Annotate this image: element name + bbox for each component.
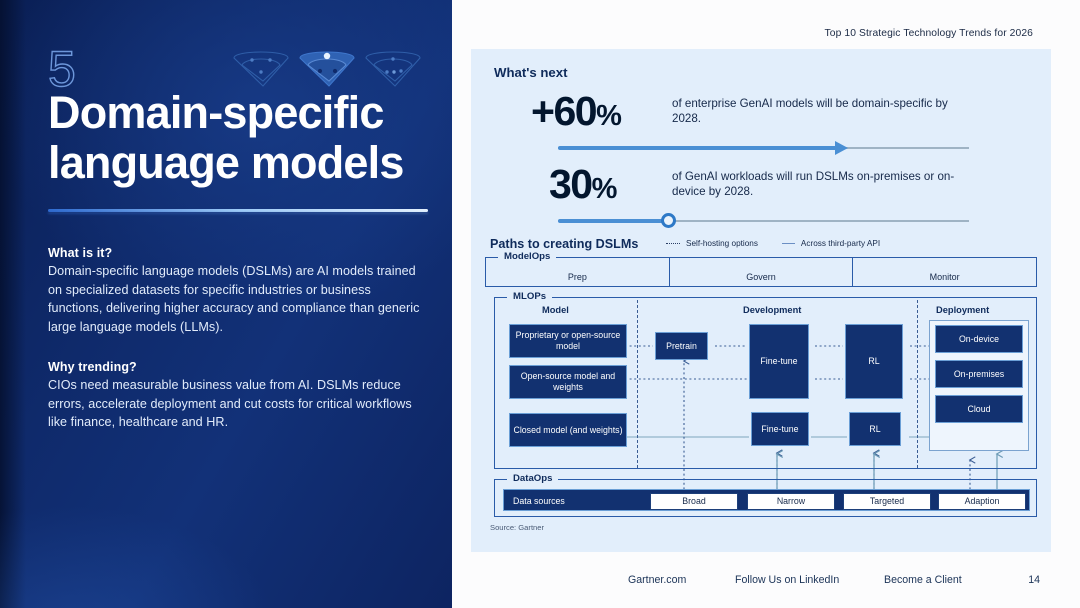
diagram-legend: Self-hosting options Across third-party … xyxy=(666,239,880,248)
dotted-line-icon xyxy=(666,243,680,244)
modelops-cells: Prep Govern Monitor xyxy=(486,258,1036,286)
legend-label: Self-hosting options xyxy=(686,239,758,248)
report-kicker: Top 10 Strategic Technology Trends for 2… xyxy=(825,28,1033,39)
stat-30-progress-bar xyxy=(558,214,969,228)
paths-heading: Paths to creating DSLMs xyxy=(490,237,638,251)
page-title-line-2: language models xyxy=(48,137,404,188)
legend-label: Across third-party API xyxy=(801,239,880,248)
data-sources-label: Data sources xyxy=(513,496,565,506)
dataops-cell-narrow[interactable]: Narrow xyxy=(747,493,835,510)
box-pretrain[interactable]: Pretrain xyxy=(655,332,708,360)
footer-link-gartner[interactable]: Gartner.com xyxy=(628,574,686,586)
dataops-cell-targeted[interactable]: Targeted xyxy=(843,493,931,510)
page-title: Domain-specific language models xyxy=(48,88,428,187)
stat-60-number: +60% xyxy=(531,91,621,132)
box-fine-tune-lower[interactable]: Fine-tune xyxy=(751,412,809,446)
phase-heading-model: Model xyxy=(542,305,569,315)
progress-fill xyxy=(558,146,837,150)
page-number: 14 xyxy=(1028,574,1040,586)
footer-link-linkedin[interactable]: Follow Us on LinkedIn xyxy=(735,574,839,586)
stat-60-value: +60 xyxy=(531,88,596,134)
footer: Gartner.com Follow Us on LinkedIn Become… xyxy=(452,560,1080,608)
legend-item-third-party-api: Across third-party API xyxy=(782,239,880,248)
whats-next-card: What's next +60% of enterprise GenAI mod… xyxy=(471,49,1051,552)
fan-eye-outline-icon xyxy=(364,48,422,88)
progress-fill xyxy=(558,219,669,223)
box-proprietary-model[interactable]: Proprietary or open-source model xyxy=(509,324,627,358)
stat-30-percent: % xyxy=(592,173,617,205)
what-is-it-block: What is it? Domain-specific language mod… xyxy=(48,246,426,337)
solid-line-icon xyxy=(782,243,795,244)
page-title-line-1: Domain-specific xyxy=(48,87,384,138)
dataops-label: DataOps xyxy=(507,473,558,484)
data-sources-bar: Data sources Broad Narrow Targeted Adapt… xyxy=(503,489,1030,511)
dataops-cell-adaption[interactable]: Adaption xyxy=(938,493,1026,510)
why-trending-heading: Why trending? xyxy=(48,360,426,374)
fan-eye-filled-icon xyxy=(298,48,356,88)
stat-30-value: 30 xyxy=(549,161,592,207)
circle-marker-icon xyxy=(661,213,676,228)
modelops-group: ModelOps Prep Govern Monitor xyxy=(485,257,1037,287)
stat-30-description: of GenAI workloads will run DSLMs on-pre… xyxy=(672,169,972,199)
modelops-cell-monitor: Monitor xyxy=(852,258,1036,286)
box-cloud[interactable]: Cloud xyxy=(935,395,1023,423)
fan-eye-outline-icon xyxy=(232,48,290,88)
box-closed-model[interactable]: Closed model (and weights) xyxy=(509,413,627,447)
right-content-panel: Top 10 Strategic Technology Trends for 2… xyxy=(452,0,1080,608)
source-note: Source: Gartner xyxy=(490,523,544,532)
title-divider xyxy=(48,209,428,212)
box-on-device[interactable]: On-device xyxy=(935,325,1023,353)
mlops-label: MLOPs xyxy=(507,291,552,302)
left-title-panel: 5 xyxy=(0,0,452,608)
dslm-paths-diagram: ModelOps Prep Govern Monitor MLOPs Model… xyxy=(485,257,1037,532)
whats-next-heading: What's next xyxy=(494,65,567,80)
phase-heading-development: Development xyxy=(743,305,801,315)
dataops-cell-broad[interactable]: Broad xyxy=(650,493,738,510)
box-fine-tune-upper[interactable]: Fine-tune xyxy=(749,324,809,399)
phase-separator xyxy=(917,300,918,468)
box-on-premises[interactable]: On-premises xyxy=(935,360,1023,388)
why-trending-block: Why trending? CIOs need measurable busin… xyxy=(48,360,426,432)
mlops-group: MLOPs Model Development Deployment Propr… xyxy=(494,297,1037,469)
stat-60-description: of enterprise GenAI models will be domai… xyxy=(672,96,972,126)
box-rl-lower[interactable]: RL xyxy=(849,412,901,446)
dataops-group: DataOps Data sources Broad Narrow Target… xyxy=(494,479,1037,517)
legend-item-self-hosting: Self-hosting options xyxy=(666,239,758,248)
decorative-icon-row xyxy=(232,48,428,92)
what-is-it-body: Domain-specific language models (DSLMs) … xyxy=(48,262,426,337)
phase-heading-deployment: Deployment xyxy=(936,305,989,315)
modelops-cell-govern: Govern xyxy=(669,258,853,286)
stat-30-number: 30% xyxy=(549,164,616,205)
phase-separator xyxy=(637,300,638,468)
arrow-marker-icon xyxy=(835,141,848,155)
stat-60-progress-bar xyxy=(558,141,969,155)
why-trending-body: CIOs need measurable business value from… xyxy=(48,376,426,432)
modelops-cell-prep: Prep xyxy=(486,258,669,286)
what-is-it-heading: What is it? xyxy=(48,246,426,260)
box-open-source-model[interactable]: Open-source model and weights xyxy=(509,365,627,399)
footer-link-become-client[interactable]: Become a Client xyxy=(884,574,962,586)
box-rl-upper[interactable]: RL xyxy=(845,324,903,399)
stat-60-percent: % xyxy=(596,100,621,132)
